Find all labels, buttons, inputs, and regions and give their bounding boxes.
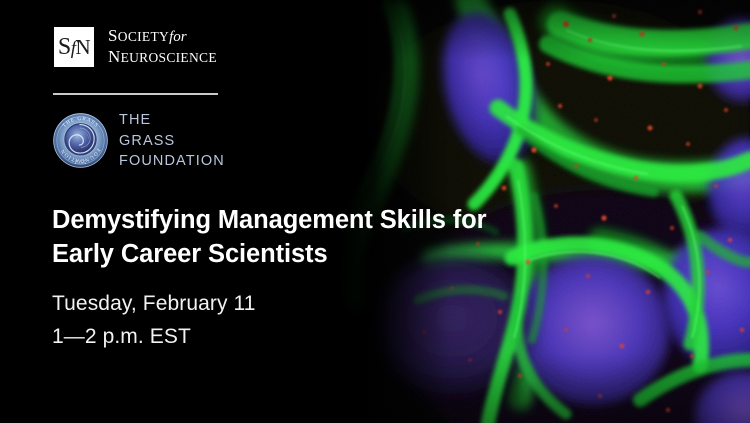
sfn-monogram-icon: SfN [54,27,94,67]
sfn-society-rest: OCIETY [118,29,169,44]
nautilus-spiral-emblem [66,125,95,154]
grass-foundation-wordmark: THE GRASS FOUNDATION [119,110,225,172]
sfn-for-word: for [169,29,187,45]
sfn-letter-s: S [58,34,71,60]
event-datetime: Tuesday, February 11 1—2 p.m. EST [52,288,256,353]
event-time: 1—2 p.m. EST [52,321,256,354]
sfn-monogram-letters: SfN [58,35,90,59]
sfn-wordmark-line-2: NEUROSCIENCE [108,47,217,68]
webinar-promo-banner: SfN SOCIETYfor NEUROSCIENCE [0,0,750,423]
sfn-letter-n: N [75,35,90,59]
grass-wordmark-line-2: GRASS [119,131,225,152]
society-for-neuroscience-logo: SfN SOCIETYfor NEUROSCIENCE [54,26,217,67]
sfn-society-cap: S [108,26,118,45]
grass-foundation-seal-icon: THE GRASS FOUNDATION [52,112,109,169]
logo-divider [53,93,218,95]
seal-year-text: 1955 [74,160,87,166]
event-title: Demystifying Management Skills for Early… [52,203,552,272]
event-date: Tuesday, February 11 [52,288,256,321]
grass-wordmark-line-1: THE [119,110,225,131]
banner-content-overlay: SfN SOCIETYfor NEUROSCIENCE [0,0,420,423]
grass-seal-graphic: THE GRASS FOUNDATION [52,112,109,169]
grass-wordmark-line-3: FOUNDATION [119,151,225,172]
grass-foundation-logo: THE GRASS FOUNDATION [52,110,225,172]
sfn-neuroscience-rest: EUROSCIENCE [121,50,217,65]
event-title-line-2: Early Career Scientists [52,237,552,271]
sfn-wordmark-line-1: SOCIETYfor [108,26,217,47]
event-title-line-1: Demystifying Management Skills for [52,203,552,237]
sfn-wordmark: SOCIETYfor NEUROSCIENCE [108,26,217,67]
sfn-neuroscience-cap: N [108,47,121,66]
